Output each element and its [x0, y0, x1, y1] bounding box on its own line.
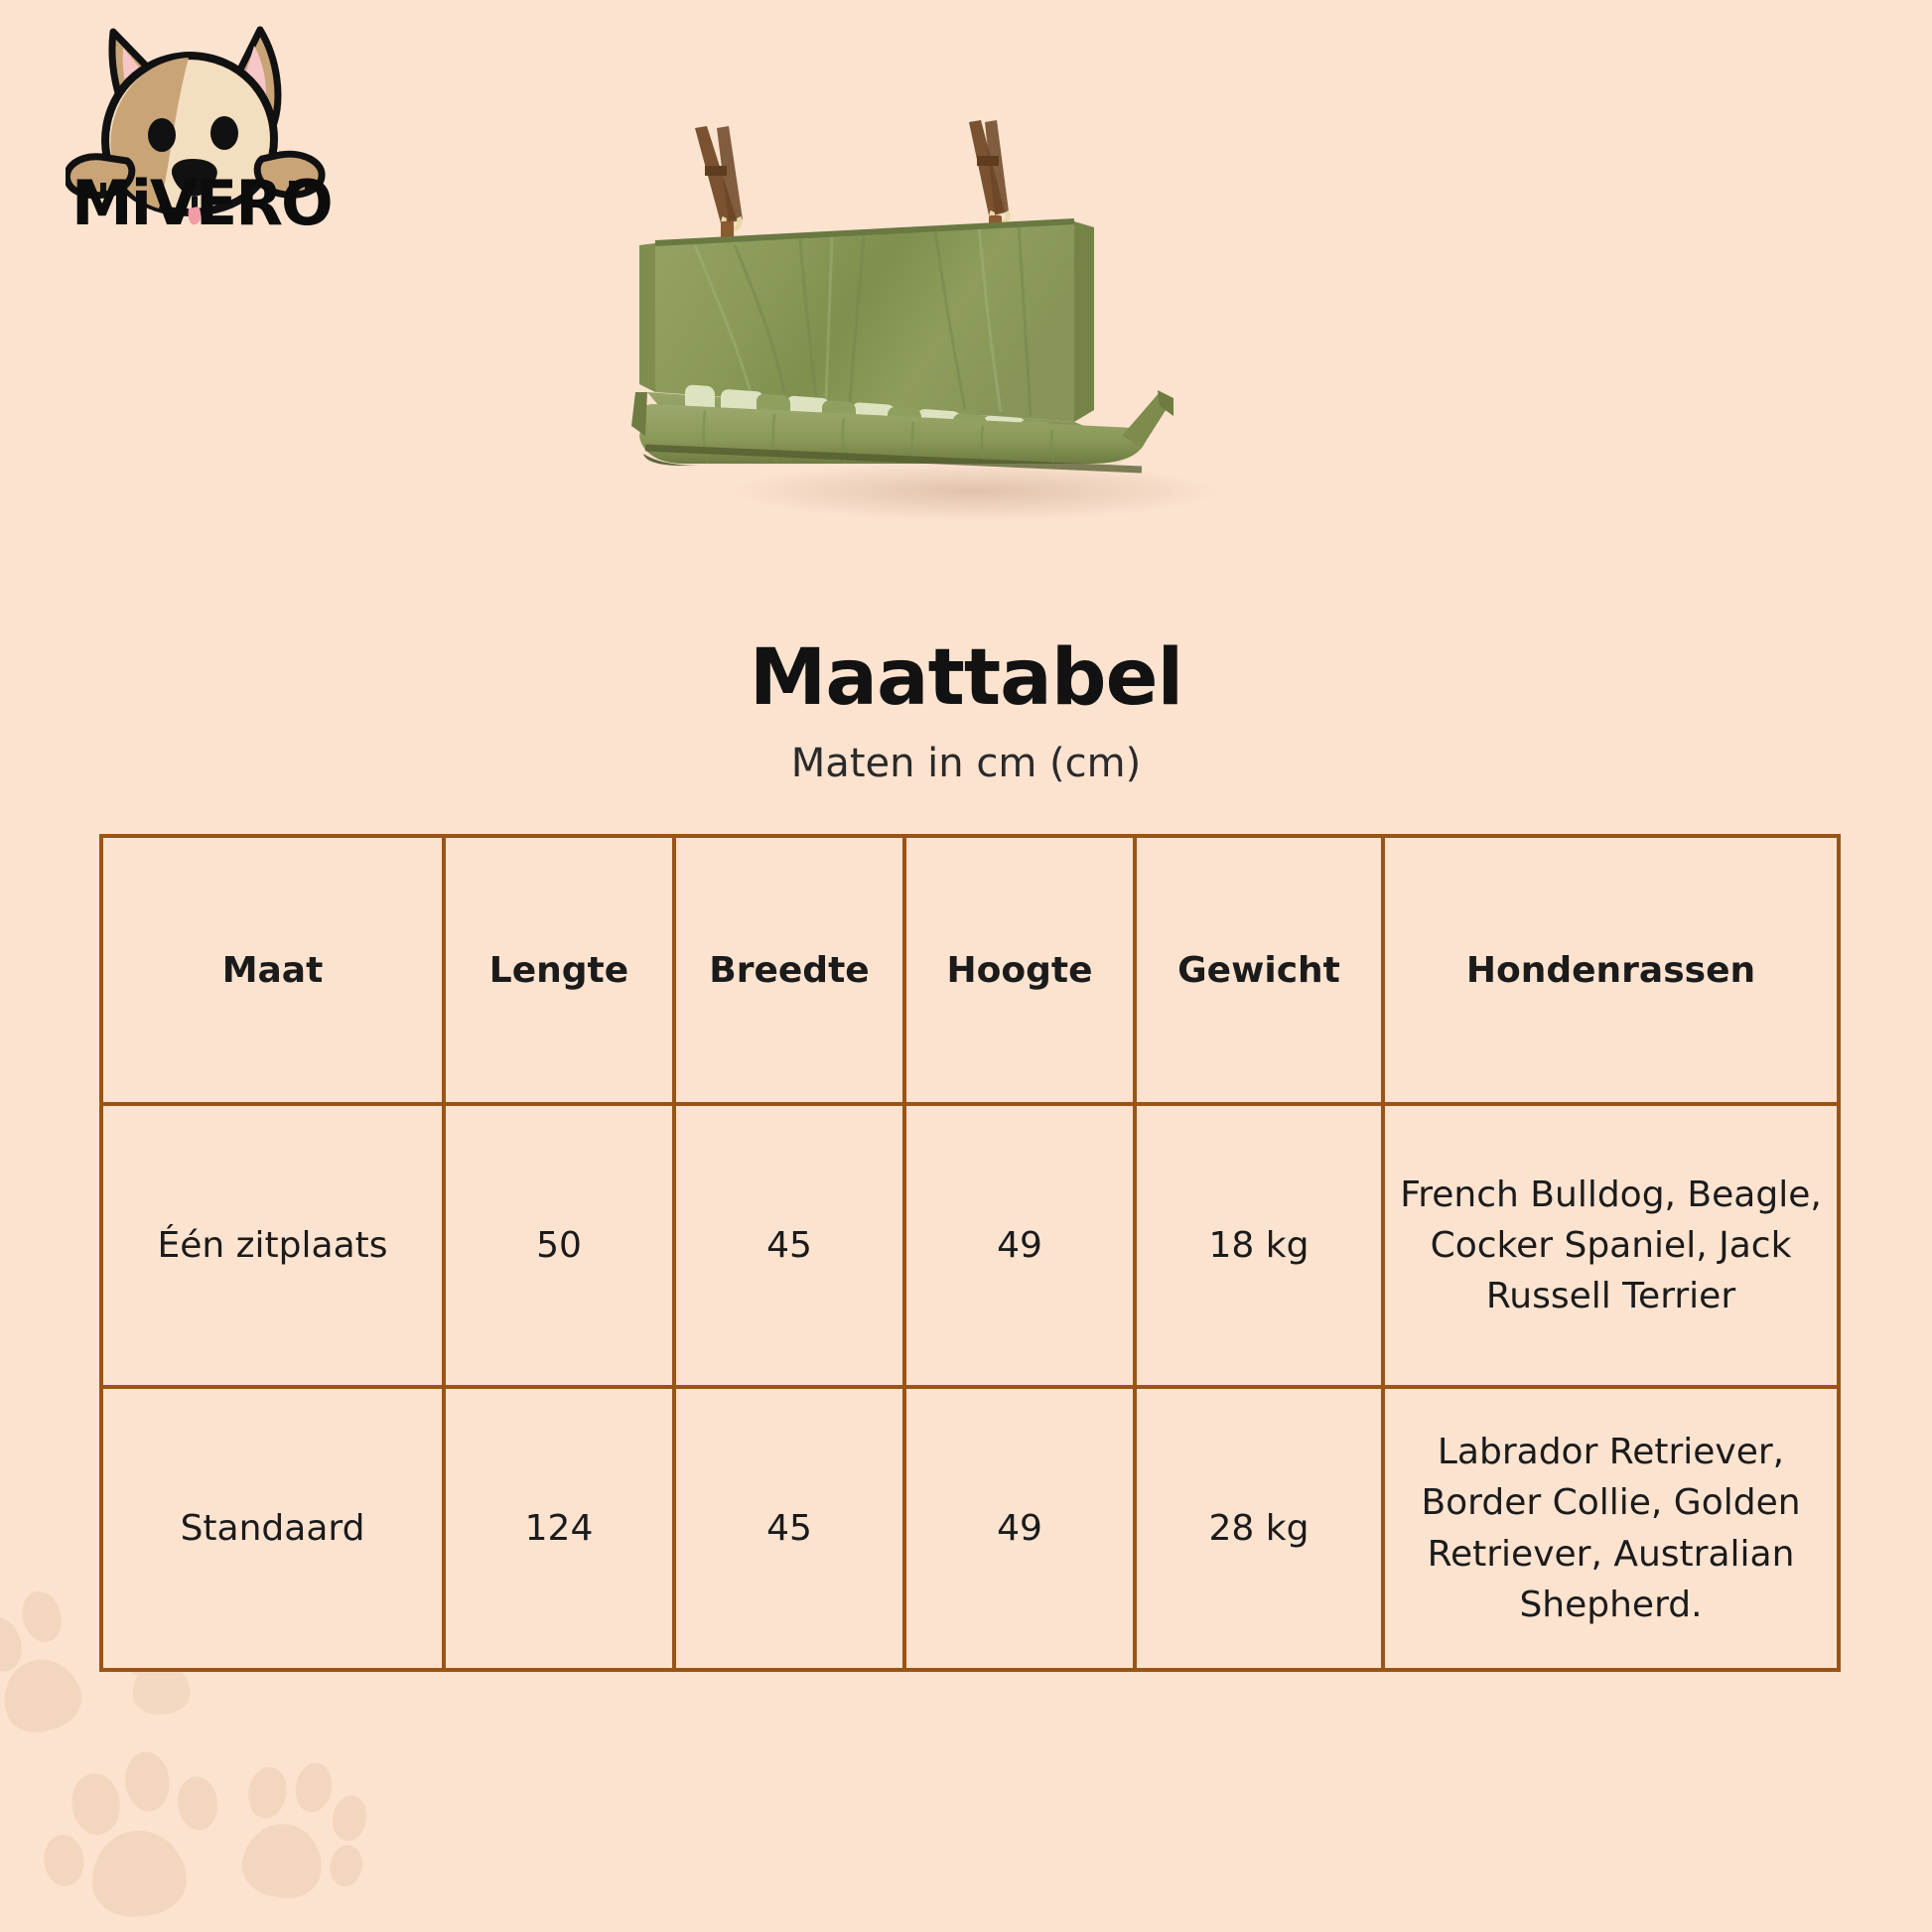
cell-gewicht: 18 kg	[1135, 1104, 1383, 1387]
cell-breedte: 45	[674, 1387, 904, 1670]
table-row: Één zitplaats 50 45 49 18 kg French Bull…	[101, 1104, 1839, 1387]
dog-face-icon: MiVERO	[66, 18, 363, 231]
paw-print-icon	[49, 1739, 224, 1929]
size-table: Maat Lengte Breedte Hoogte Gewicht Honde…	[99, 834, 1841, 1672]
page-subtitle: Maten in cm (cm)	[0, 741, 1932, 786]
cell-hondenrassen: Labrador Retriever, Border Collie, Golde…	[1383, 1387, 1839, 1670]
cell-lengte: 124	[444, 1387, 674, 1670]
column-header-gewicht: Gewicht	[1135, 836, 1383, 1104]
cell-hoogte: 49	[904, 1104, 1135, 1387]
column-header-lengte: Lengte	[444, 836, 674, 1104]
column-header-hondenrassen: Hondenrassen	[1383, 836, 1839, 1104]
cell-lengte: 50	[444, 1104, 674, 1387]
cell-hondenrassen: French Bulldog, Beagle, Cocker Spaniel, …	[1383, 1104, 1839, 1387]
paw-print-icon	[224, 1747, 377, 1916]
size-chart-infographic: MiVERO	[0, 0, 1932, 1932]
column-header-hoogte: Hoogte	[904, 836, 1135, 1104]
cell-breedte: 45	[674, 1104, 904, 1387]
brand-wordmark: MiVERO	[71, 167, 332, 231]
size-table-container: Maat Lengte Breedte Hoogte Gewicht Honde…	[99, 834, 1837, 1672]
cell-maat: Standaard	[101, 1387, 444, 1670]
cell-maat: Één zitplaats	[101, 1104, 444, 1387]
product-image	[625, 94, 1320, 521]
dog-car-seat-cover-illustration	[625, 94, 1320, 521]
column-header-breedte: Breedte	[674, 836, 904, 1104]
cell-gewicht: 28 kg	[1135, 1387, 1383, 1670]
table-header-row: Maat Lengte Breedte Hoogte Gewicht Honde…	[101, 836, 1839, 1104]
column-header-maat: Maat	[101, 836, 444, 1104]
table-row: Standaard 124 45 49 28 kg Labrador Retri…	[101, 1387, 1839, 1670]
brand-logo: MiVERO	[66, 18, 363, 231]
cell-hoogte: 49	[904, 1387, 1135, 1670]
page-title: Maattabel	[0, 633, 1932, 723]
